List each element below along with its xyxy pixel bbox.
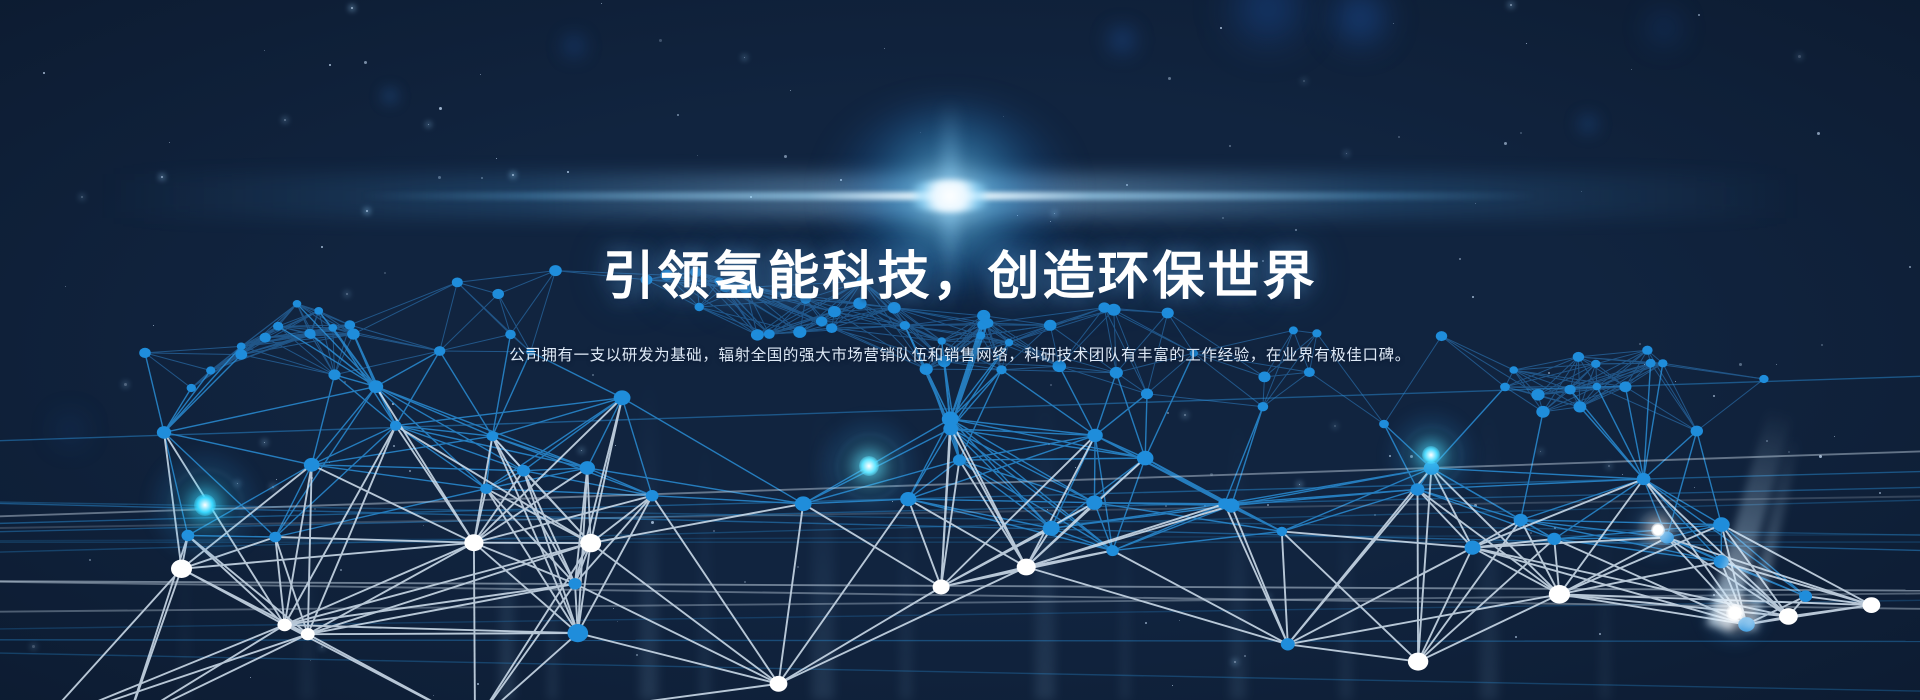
bokeh-orb bbox=[560, 32, 588, 60]
network-edge bbox=[1225, 504, 1282, 532]
star-dot bbox=[1608, 465, 1610, 467]
network-edge bbox=[1521, 520, 1722, 562]
star-dot bbox=[480, 74, 481, 75]
network-node bbox=[1281, 638, 1295, 650]
network-edge bbox=[908, 419, 950, 499]
network-edge bbox=[164, 432, 188, 535]
network-node bbox=[614, 390, 631, 405]
network-edge bbox=[182, 465, 312, 569]
network-edge bbox=[285, 426, 396, 625]
star-dot bbox=[744, 57, 745, 58]
star-dot bbox=[43, 72, 45, 74]
star-dot bbox=[636, 654, 638, 656]
network-edge bbox=[1644, 479, 1722, 525]
glow-node-beam-base bbox=[1726, 604, 1744, 622]
network-edge bbox=[950, 419, 1095, 435]
star-dot bbox=[366, 210, 368, 212]
star-dot bbox=[439, 107, 442, 110]
network-edge bbox=[959, 460, 1112, 550]
network-edge bbox=[275, 537, 284, 625]
network-edge bbox=[1747, 616, 1789, 624]
network-node bbox=[1110, 367, 1123, 379]
network-edge bbox=[1559, 594, 1788, 616]
network-edge bbox=[1521, 520, 1555, 539]
network-edge bbox=[1473, 520, 1521, 548]
network-edge bbox=[492, 436, 590, 543]
network-edge bbox=[164, 432, 285, 625]
glow-node-far-right-upper-halo bbox=[1628, 500, 1688, 560]
star-dot bbox=[237, 483, 238, 484]
network-edge bbox=[587, 468, 590, 543]
network-edge bbox=[1282, 489, 1418, 531]
network-edge bbox=[182, 543, 474, 569]
star-dot bbox=[1167, 412, 1169, 414]
network-edge bbox=[128, 634, 308, 700]
star-dot bbox=[284, 119, 286, 121]
network-edge bbox=[486, 436, 492, 489]
network-edge bbox=[587, 468, 803, 504]
flare-soft-streak bbox=[100, 174, 1799, 218]
network-node bbox=[1137, 451, 1154, 466]
star-dot bbox=[1698, 14, 1700, 16]
network-edge bbox=[1225, 504, 1288, 645]
network-long-edge bbox=[0, 499, 1920, 554]
network-edge bbox=[1505, 387, 1580, 407]
network-edge bbox=[486, 489, 591, 543]
network-edge bbox=[182, 569, 285, 625]
network-edge bbox=[1521, 520, 1722, 525]
network-edge bbox=[486, 471, 523, 489]
star-dot bbox=[1268, 596, 1269, 597]
light-ray bbox=[812, 400, 834, 700]
star-dot bbox=[1165, 505, 1167, 507]
star-dot bbox=[310, 660, 311, 661]
network-edge bbox=[941, 429, 951, 587]
network-edge bbox=[1094, 503, 1231, 506]
star-dot bbox=[264, 50, 265, 51]
star-dot bbox=[1548, 372, 1550, 374]
network-edge bbox=[944, 362, 950, 420]
network-edge bbox=[1418, 468, 1432, 489]
network-edge bbox=[951, 429, 1026, 567]
network-edge bbox=[1231, 506, 1281, 532]
network-edge bbox=[182, 569, 308, 634]
network-edge bbox=[1282, 531, 1418, 661]
network-edge bbox=[908, 499, 941, 587]
network-edge bbox=[1667, 431, 1697, 538]
network-long-edge bbox=[0, 501, 1920, 536]
network-edge bbox=[1145, 458, 1282, 531]
network-node bbox=[1713, 517, 1730, 532]
network-long-edge bbox=[0, 640, 1920, 642]
network-node bbox=[187, 384, 196, 392]
light-ray bbox=[548, 450, 557, 700]
network-edge bbox=[1667, 538, 1721, 562]
bokeh-orb bbox=[380, 86, 400, 106]
star-dot bbox=[581, 450, 582, 451]
star-dot bbox=[840, 179, 842, 181]
network-edge bbox=[1384, 424, 1418, 489]
network-edge bbox=[622, 398, 803, 504]
star-dot bbox=[1713, 594, 1715, 596]
network-edge bbox=[591, 496, 652, 543]
star-dot bbox=[1346, 153, 1347, 154]
network-edge bbox=[578, 496, 652, 633]
bokeh-orb bbox=[1106, 24, 1138, 56]
network-node bbox=[1779, 608, 1798, 625]
star-dot bbox=[81, 196, 83, 198]
star-dot bbox=[1474, 504, 1477, 507]
network-edge bbox=[308, 426, 396, 635]
network-node bbox=[301, 628, 315, 640]
network-edge bbox=[779, 587, 942, 684]
network-edge bbox=[950, 370, 1001, 419]
network-edge bbox=[1559, 594, 1746, 624]
network-edge bbox=[41, 625, 285, 700]
star-dot bbox=[1510, 4, 1512, 6]
network-edge bbox=[188, 465, 312, 536]
network-edge bbox=[396, 426, 524, 471]
network-edge bbox=[1721, 525, 1746, 625]
network-edge bbox=[908, 460, 959, 499]
network-node bbox=[1465, 541, 1481, 555]
star-dot bbox=[433, 695, 434, 696]
network-node bbox=[900, 492, 916, 506]
network-edge bbox=[1514, 370, 1626, 387]
network-edge bbox=[926, 369, 1001, 370]
network-edge bbox=[1644, 363, 1663, 479]
network-edge bbox=[1505, 387, 1538, 395]
network-node bbox=[1017, 559, 1036, 576]
network-edge bbox=[591, 504, 804, 543]
network-node bbox=[157, 426, 171, 439]
glow-node-right-halo bbox=[1385, 409, 1477, 501]
network-edge bbox=[41, 569, 182, 700]
network-edge bbox=[492, 398, 622, 436]
star-dot bbox=[1334, 425, 1336, 427]
glow-node-right bbox=[1422, 446, 1440, 464]
network-edge bbox=[1570, 387, 1625, 390]
star-dot bbox=[1374, 514, 1376, 516]
star-dot bbox=[409, 470, 411, 472]
light-ray bbox=[1120, 470, 1130, 700]
network-edge bbox=[1418, 520, 1521, 662]
star-dot bbox=[1172, 685, 1173, 686]
star-dot bbox=[713, 530, 715, 532]
network-edge bbox=[1113, 506, 1232, 551]
star-dot bbox=[1520, 132, 1522, 134]
network-edge bbox=[1418, 489, 1521, 520]
network-edge bbox=[1580, 363, 1663, 407]
glow-node-center bbox=[859, 456, 879, 476]
star-dot bbox=[351, 7, 353, 9]
flare-horizontal-streak bbox=[360, 192, 1540, 200]
star-dot bbox=[790, 90, 791, 91]
network-edge bbox=[188, 536, 275, 538]
network-node bbox=[1218, 498, 1231, 509]
network-edge bbox=[959, 370, 1001, 460]
star-dot bbox=[272, 486, 274, 488]
star-dot bbox=[1398, 136, 1400, 138]
network-edge bbox=[591, 398, 622, 543]
star-dot bbox=[340, 569, 342, 571]
network-edge bbox=[575, 584, 578, 633]
network-edge bbox=[191, 371, 210, 389]
network-edge bbox=[652, 496, 803, 504]
network-edge bbox=[1514, 370, 1543, 412]
network-edge bbox=[128, 569, 182, 700]
network-edge bbox=[396, 426, 588, 468]
network-edge bbox=[1263, 372, 1310, 407]
network-edge bbox=[182, 536, 188, 569]
network-edge bbox=[578, 543, 591, 633]
network-edge bbox=[944, 362, 959, 461]
network-edge bbox=[652, 496, 778, 684]
network-edge bbox=[1521, 479, 1644, 520]
network-edge bbox=[285, 584, 575, 625]
network-edge bbox=[524, 468, 588, 471]
light-ray bbox=[1340, 450, 1352, 700]
star-dot bbox=[1393, 23, 1394, 24]
network-node bbox=[171, 560, 192, 578]
network-edge bbox=[951, 429, 960, 460]
network-long-edge bbox=[0, 449, 1920, 518]
network-edge bbox=[575, 496, 652, 584]
network-edge bbox=[1059, 366, 1147, 394]
network-edge bbox=[275, 489, 486, 537]
network-edge bbox=[1473, 539, 1555, 548]
network-edge bbox=[376, 387, 396, 426]
network-node bbox=[580, 461, 595, 475]
network-edge bbox=[1288, 644, 1418, 661]
network-node bbox=[933, 580, 950, 595]
star-dot bbox=[1631, 69, 1632, 70]
network-edge bbox=[164, 388, 191, 432]
bokeh-orb bbox=[1328, 0, 1392, 50]
star-dot bbox=[1554, 527, 1556, 529]
network-edge bbox=[1431, 387, 1505, 468]
network-edge bbox=[1418, 468, 1431, 661]
network-edge bbox=[1543, 407, 1580, 412]
network-node bbox=[1514, 514, 1528, 526]
star-dot bbox=[750, 196, 752, 198]
star-dot bbox=[481, 177, 483, 179]
network-node bbox=[1141, 388, 1153, 399]
network-edge bbox=[1747, 596, 1806, 624]
network-edge bbox=[1113, 504, 1225, 551]
network-edge bbox=[474, 468, 587, 543]
star-dot bbox=[1234, 661, 1236, 663]
network-edge bbox=[1095, 435, 1145, 458]
network-edge bbox=[1667, 538, 1871, 606]
page-title: 引领氢能科技，创造环保世界 bbox=[0, 248, 1920, 308]
network-edge bbox=[492, 436, 587, 468]
glow-node-left bbox=[194, 494, 216, 516]
network-edge bbox=[1570, 390, 1644, 479]
bokeh-orb bbox=[1644, 8, 1684, 48]
light-ray bbox=[1230, 410, 1246, 700]
network-edge bbox=[524, 471, 578, 633]
network-edge bbox=[474, 398, 622, 543]
network-edge bbox=[1116, 373, 1147, 394]
star-dot bbox=[1145, 622, 1147, 624]
network-edge bbox=[941, 551, 1113, 587]
network-edge bbox=[1431, 468, 1520, 520]
network-edge bbox=[1473, 548, 1789, 617]
network-edge bbox=[1559, 525, 1721, 595]
star-dot bbox=[1047, 509, 1048, 510]
network-edge bbox=[1721, 562, 1805, 597]
star-dot bbox=[314, 508, 316, 510]
network-edge bbox=[1663, 363, 1697, 431]
star-dot bbox=[1530, 532, 1532, 534]
network-edge bbox=[1282, 468, 1432, 531]
network-node bbox=[953, 454, 966, 465]
star-dot bbox=[1222, 217, 1224, 219]
network-edge bbox=[908, 499, 1026, 567]
network-edge bbox=[1002, 370, 1117, 373]
network-edge bbox=[951, 429, 1145, 458]
network-node bbox=[182, 530, 195, 541]
network-edge bbox=[1026, 503, 1094, 567]
network-node bbox=[369, 380, 384, 393]
glow-node-beam-base-ring bbox=[1713, 591, 1760, 638]
network-node bbox=[1106, 545, 1118, 556]
network-edge bbox=[312, 465, 487, 489]
network-edge bbox=[335, 375, 376, 387]
network-edge bbox=[1026, 458, 1145, 567]
network-edge bbox=[1514, 370, 1580, 407]
glow-node-left-ring bbox=[169, 469, 243, 543]
star-dot bbox=[1819, 455, 1822, 458]
light-ray bbox=[900, 460, 912, 700]
network-edge bbox=[1559, 562, 1721, 595]
network-edge bbox=[1597, 387, 1697, 431]
network-edge bbox=[1721, 562, 1788, 617]
glow-node-far-right-upper-ring bbox=[1639, 511, 1678, 550]
network-edge bbox=[803, 429, 951, 504]
network-edge bbox=[1051, 528, 1112, 550]
network-edge bbox=[1580, 387, 1626, 407]
network-edge bbox=[308, 634, 475, 700]
network-node bbox=[795, 496, 812, 511]
network-edge bbox=[1721, 525, 1871, 606]
network-edge bbox=[1094, 458, 1145, 503]
star-dot bbox=[884, 48, 885, 49]
network-node bbox=[1799, 590, 1812, 602]
network-node bbox=[464, 534, 483, 551]
network-edge bbox=[575, 398, 622, 584]
network-edge bbox=[164, 387, 376, 433]
network-edge bbox=[941, 528, 1051, 587]
network-edge bbox=[1113, 551, 1288, 645]
network-edge bbox=[1697, 379, 1764, 431]
network-edge bbox=[312, 465, 524, 471]
network-edge bbox=[926, 369, 951, 429]
network-edge bbox=[1288, 548, 1473, 645]
star-dot bbox=[321, 646, 323, 648]
network-edge bbox=[950, 419, 1026, 567]
network-node bbox=[1379, 420, 1389, 429]
network-edge bbox=[128, 536, 188, 700]
network-edge bbox=[1231, 407, 1263, 506]
network-edge bbox=[312, 426, 396, 465]
network-edge bbox=[950, 419, 1051, 528]
star-dot bbox=[613, 608, 614, 609]
network-edge bbox=[1418, 594, 1559, 661]
network-node bbox=[1536, 406, 1549, 418]
network-node bbox=[1087, 429, 1102, 442]
network-edge bbox=[1570, 390, 1580, 407]
star-dot bbox=[601, 3, 602, 4]
network-node bbox=[942, 412, 959, 427]
network-edge bbox=[396, 426, 493, 437]
network-edge bbox=[1263, 377, 1265, 407]
network-edge bbox=[1538, 395, 1543, 412]
network-edge bbox=[376, 387, 587, 468]
network-edge bbox=[1095, 435, 1113, 550]
network-node bbox=[1863, 597, 1881, 613]
network-edge bbox=[308, 633, 578, 634]
light-ray bbox=[1600, 480, 1610, 700]
star-dot bbox=[1798, 55, 1801, 58]
network-edge bbox=[575, 468, 587, 584]
star-dot bbox=[1540, 451, 1541, 452]
star-dot bbox=[1834, 436, 1835, 437]
network-edge bbox=[944, 362, 950, 429]
network-edge bbox=[1651, 363, 1697, 431]
network-edge bbox=[1051, 506, 1231, 529]
network-edge bbox=[587, 468, 652, 496]
network-edge bbox=[1747, 605, 1872, 624]
network-edge bbox=[1554, 525, 1721, 539]
star-dot bbox=[1303, 80, 1305, 82]
network-edge bbox=[1543, 387, 1625, 412]
star-dot bbox=[1879, 492, 1881, 494]
network-edge bbox=[376, 387, 524, 471]
star-dot bbox=[1581, 191, 1582, 192]
network-edge bbox=[1431, 468, 1554, 539]
bokeh-orb bbox=[52, 412, 88, 448]
network-edge bbox=[285, 543, 591, 625]
network-edge bbox=[474, 543, 475, 700]
network-edge bbox=[1554, 539, 1559, 594]
network-long-edge bbox=[0, 495, 1920, 529]
network-edge bbox=[312, 387, 376, 465]
network-node bbox=[1691, 426, 1703, 437]
star-dot bbox=[784, 155, 787, 158]
network-edge bbox=[803, 460, 959, 504]
glow-node-left-halo bbox=[147, 447, 263, 563]
network-node bbox=[1637, 473, 1651, 485]
star-dot bbox=[1210, 473, 1213, 476]
network-edge bbox=[1231, 468, 1431, 505]
star-dot bbox=[250, 677, 251, 678]
network-edge bbox=[951, 429, 1095, 436]
network-edge bbox=[1225, 489, 1418, 503]
network-edge bbox=[1473, 548, 1560, 595]
network-edge bbox=[1521, 520, 1560, 594]
network-edge bbox=[182, 537, 276, 569]
network-edge bbox=[1644, 479, 1806, 596]
network-edge bbox=[285, 625, 578, 633]
star-dot bbox=[1766, 440, 1768, 442]
star-dot bbox=[496, 158, 497, 159]
network-edge bbox=[1145, 458, 1224, 504]
network-edge bbox=[1095, 394, 1147, 436]
network-edge bbox=[779, 567, 1027, 684]
network-edge bbox=[524, 471, 591, 543]
